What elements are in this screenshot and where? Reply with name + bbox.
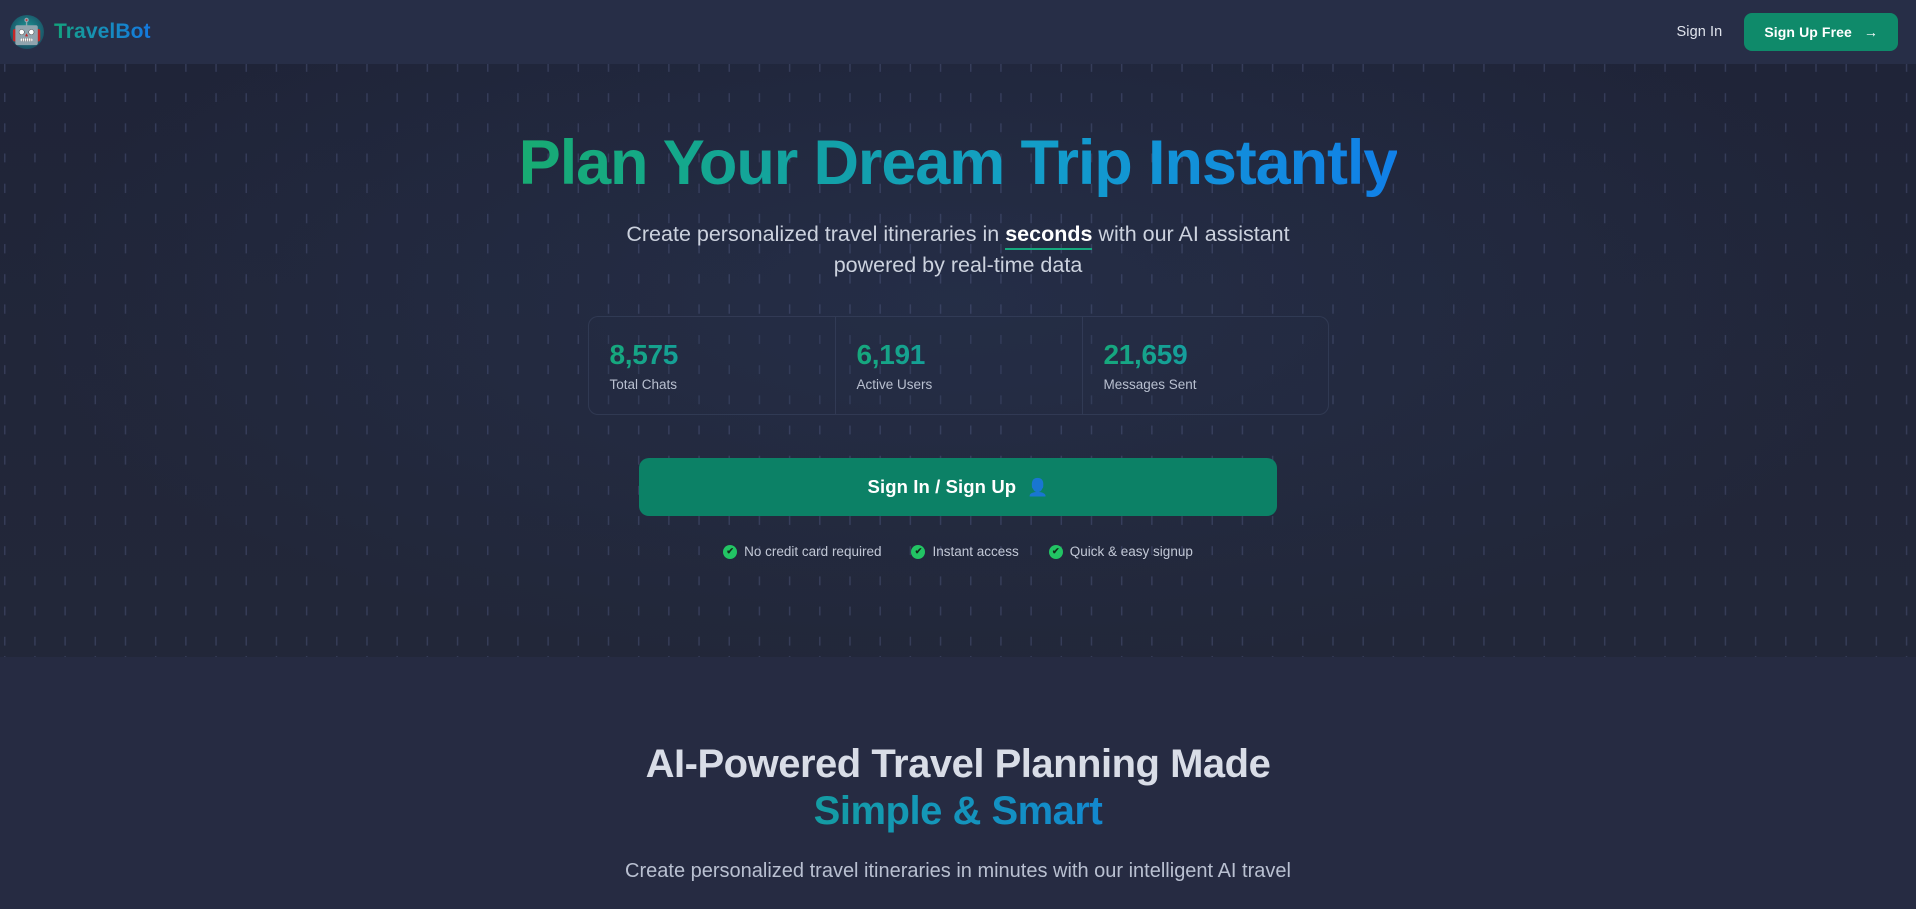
section2-title-line2: Simple & Smart [646,788,1271,835]
check-circle-icon: ✔ [723,545,737,559]
stat-label: Active Users [857,377,1082,392]
arrow-right-icon: → [1864,24,1878,40]
stat-label: Messages Sent [1104,377,1328,392]
hero-subtitle-part1: Create personalized travel itineraries i… [626,222,1005,246]
robot-avatar-icon: 🤖 [10,15,44,49]
hero-subtitle: Create personalized travel itineraries i… [588,219,1328,280]
feature-instant-access: ✔ Instant access [911,544,1018,559]
stat-value: 8,575 [610,339,835,371]
navbar-actions: Sign In Sign Up Free → [1677,13,1899,51]
check-circle-icon: ✔ [1049,545,1063,559]
section2-title: AI-Powered Travel Planning Made Simple &… [646,741,1271,835]
stat-card-total-chats: 8,575 Total Chats [588,316,835,415]
cta-label: Sign In / Sign Up [868,476,1017,498]
navbar-brand-group[interactable]: 🤖 TravelBot [10,15,151,49]
hero-subtitle-highlight: seconds [1005,222,1092,250]
stat-card-messages-sent: 21,659 Messages Sent [1082,316,1329,415]
feature-quick-easy-signup: ✔ Quick & easy signup [1049,544,1193,559]
stat-value: 6,191 [857,339,1082,371]
sign-in-link[interactable]: Sign In [1677,24,1723,40]
robot-glyph: 🤖 [11,20,42,45]
stat-card-active-users: 6,191 Active Users [835,316,1082,415]
check-circle-icon: ✔ [911,545,925,559]
feature-no-credit-card: ✔ No credit card required [723,544,881,559]
features-intro-section: AI-Powered Travel Planning Made Simple &… [0,657,1916,909]
hero-feature-list: ✔ No credit card required ✔ Instant acce… [723,544,1193,559]
stat-value: 21,659 [1104,339,1328,371]
top-navbar: 🤖 TravelBot Sign In Sign Up Free → [0,0,1916,64]
hero-content: Plan Your Dream Trip Instantly Create pe… [0,64,1916,559]
stat-label: Total Chats [610,377,835,392]
sign-up-free-button[interactable]: Sign Up Free → [1744,13,1898,51]
section2-subtitle: Create personalized travel itineraries i… [625,857,1291,886]
feature-label: Instant access [932,544,1018,559]
feature-label: Quick & easy signup [1070,544,1193,559]
feature-label: No credit card required [744,544,881,559]
sign-up-free-label: Sign Up Free [1764,24,1852,40]
hero-stats-row: 8,575 Total Chats 6,191 Active Users 21,… [588,316,1329,415]
brand-name: TravelBot [54,20,151,44]
hero-title: Plan Your Dream Trip Instantly [519,130,1397,197]
hero-section: Plan Your Dream Trip Instantly Create pe… [0,64,1916,657]
section2-title-line1: AI-Powered Travel Planning Made [646,742,1271,786]
user-person-icon: 👤 [1027,479,1048,496]
sign-in-sign-up-button[interactable]: Sign In / Sign Up 👤 [639,458,1277,516]
